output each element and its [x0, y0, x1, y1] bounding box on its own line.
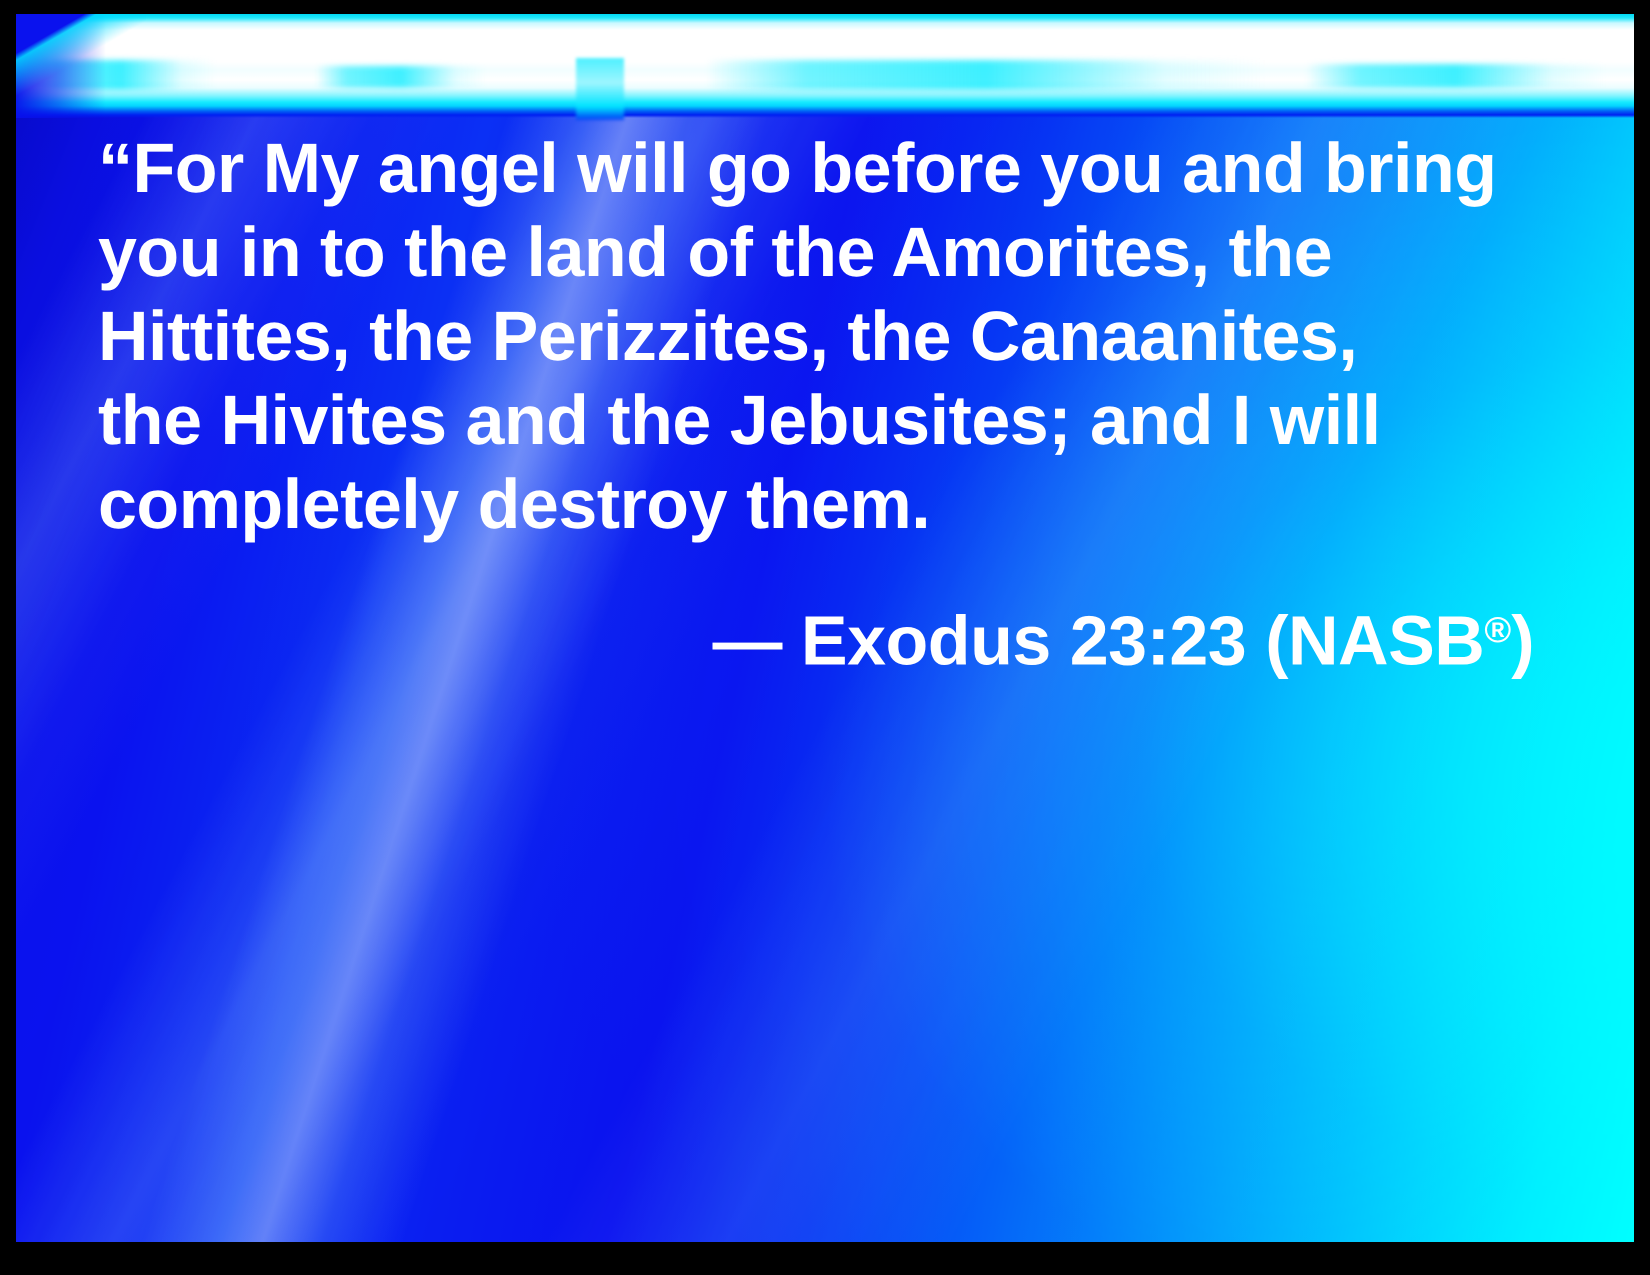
verse-citation: — Exodus 23:23 (NASB®) — [98, 588, 1536, 683]
verse-line-5: completely destroy them. — [98, 462, 1536, 546]
verse-line-1: “For My angel will go before you and bri… — [98, 126, 1536, 210]
verse-line-2: you in to the land of the Amorites, the — [98, 210, 1536, 294]
header-left-angled-cut — [16, 14, 146, 118]
header-wisp-center — [706, 60, 1266, 90]
registered-trademark-icon: ® — [1484, 609, 1511, 650]
verse-slide: “For My angel will go before you and bri… — [0, 0, 1650, 1275]
citation-prefix: — Exodus 23:23 (NASB — [712, 602, 1484, 680]
header-wisp-left-inner — [316, 66, 486, 88]
header-center-nub — [576, 58, 624, 120]
slide-panel: “For My angel will go before you and bri… — [16, 14, 1634, 1242]
verse-line-4: the Hivites and the Jebusites; and I wil… — [98, 378, 1536, 462]
header-glow-band — [16, 14, 1634, 118]
header-wisp-right — [1306, 64, 1606, 88]
citation-suffix: ) — [1511, 602, 1534, 680]
verse-text-block: “For My angel will go before you and bri… — [98, 126, 1536, 683]
verse-line-3: Hittites, the Perizzites, the Canaanites… — [98, 294, 1536, 378]
